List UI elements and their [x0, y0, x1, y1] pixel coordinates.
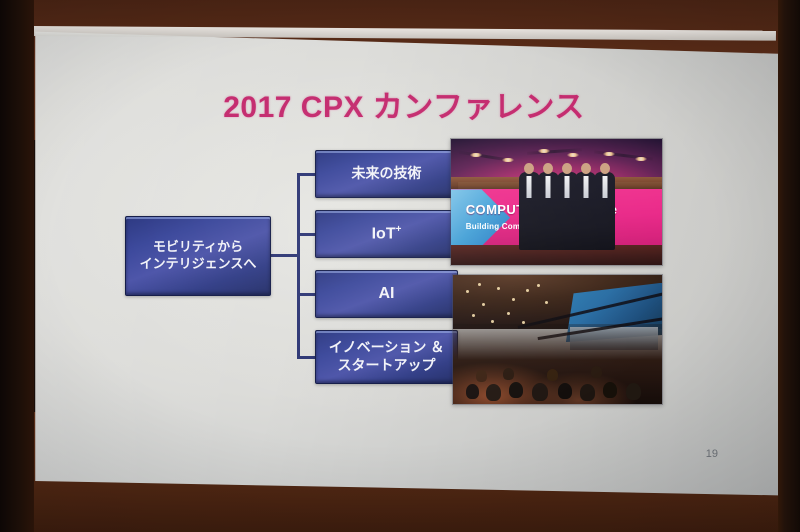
projection-screen: [30, 24, 778, 504]
room-photo: 2017 CPX カンファレンス モビリティから インテリジェンスへ 未来の技術: [0, 0, 800, 532]
left-dark-wall: [0, 0, 34, 532]
screen-surface: [30, 24, 778, 504]
right-dark-wall: [778, 0, 800, 532]
